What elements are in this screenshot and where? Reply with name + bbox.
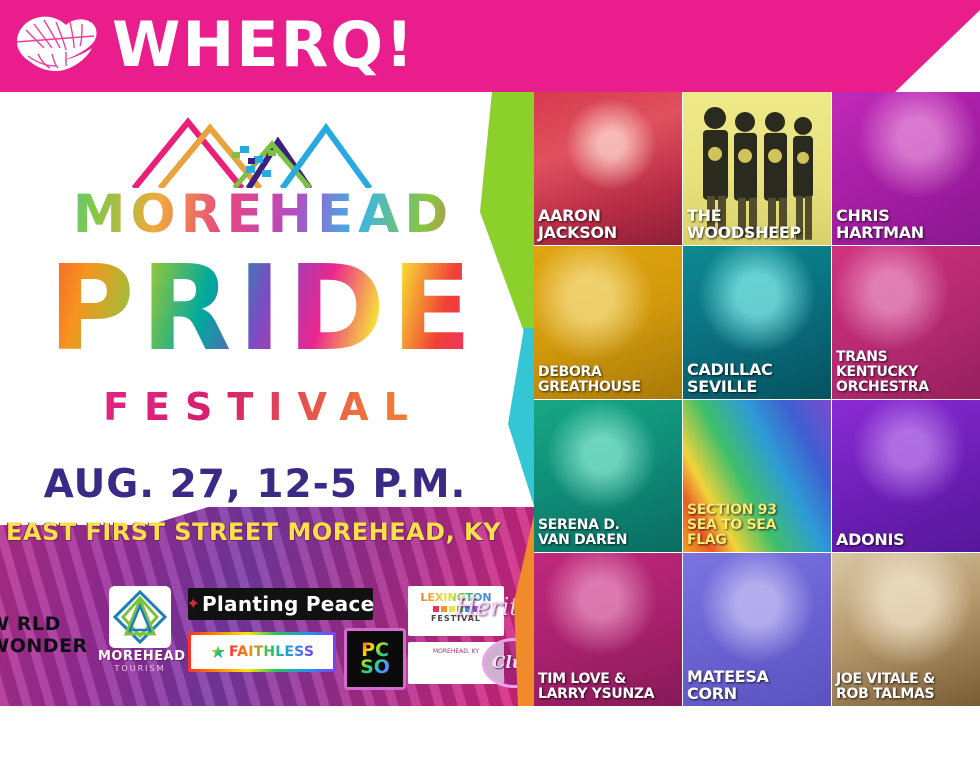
sponsor-pcso-line2: SO [360, 659, 390, 676]
sponsor-tourism-sub: TOURISM [98, 664, 182, 673]
faithless-star-icon: ★ [210, 642, 226, 663]
lips-kiss-icon [8, 8, 100, 82]
event-date: AUG. 27, 12-5 P.M. [20, 462, 490, 508]
performer-name: DEBORAGREATHOUSE [538, 365, 680, 395]
sponsor-tourism-caption: MOREHEAD [98, 650, 182, 664]
performer-name: ADONIS [836, 531, 978, 548]
sponsor-logo-faithless-campaign[interactable]: ★ FAITHLESS [188, 632, 336, 672]
performer-tile-mateesa-corn[interactable]: MATEESACORN [683, 553, 831, 706]
performer-name: SECTION 93SEA TO SEAFLAG [687, 503, 829, 548]
performer-name: SERENA D.VAN DAREN [538, 518, 680, 548]
performer-name: MATEESACORN [687, 668, 829, 702]
sponsor-logo-pcso[interactable]: PC SO [344, 628, 406, 690]
logo-text-festival: FESTIVAL [28, 384, 498, 430]
sponsor-wow-line2: WONDER [0, 635, 88, 657]
performer-name: JOE VITALE &ROB TALMAS [836, 672, 978, 702]
performer-name: TIM LOVE &LARRY YSUNZA [538, 672, 680, 702]
sponsor-planting-label: Planting Peace [202, 592, 375, 616]
performer-name: CADILLACSEVILLE [687, 361, 829, 395]
tourism-emblem-icon [109, 586, 171, 648]
performer-tile-the-woodsheep[interactable]: THEWOODSHEEP [683, 92, 831, 245]
site-header-banner: WHERQ! [0, 0, 980, 92]
page-root: WHERQ! [0, 0, 980, 784]
performer-name: THEWOODSHEEP [687, 207, 829, 241]
logo-text-morehead: MOREHEAD [28, 186, 498, 244]
performer-tile-trans-kentucky-orchestra[interactable]: TRANSKENTUCKYORCHESTRA [832, 246, 980, 399]
mountain-range-icon [132, 108, 372, 188]
performer-tile-section-93-sea-to-sea-flag[interactable]: SECTION 93SEA TO SEAFLAG [683, 400, 831, 553]
sponsor-faithless-label: FAITHLESS [229, 644, 314, 660]
performer-tile-chris-hartman[interactable]: CHRISHARTMAN [832, 92, 980, 245]
logo-text-pride: PRIDE [28, 244, 498, 372]
sponsor-logo-world-of-wonder[interactable]: W RLD WONDER [0, 602, 84, 668]
poster-left-panel: MOREHEAD PRIDE FESTIVAL AUG. 27, 12-5 P.… [0, 92, 540, 706]
sponsor-logo-morehead-tourism[interactable]: MOREHEAD TOURISM [98, 586, 182, 686]
performer-tile-debora-greathouse[interactable]: DEBORAGREATHOUSE [534, 246, 682, 399]
performer-tile-cadillac-seville[interactable]: CADILLACSEVILLE [683, 246, 831, 399]
performer-name: CHRISHARTMAN [836, 207, 978, 241]
performer-tile-joe-vitale-rob-talmas[interactable]: JOE VITALE &ROB TALMAS [832, 553, 980, 706]
sponsor-wow-line1: W RLD [0, 613, 88, 635]
performer-name: TRANSKENTUCKYORCHESTRA [836, 350, 978, 395]
brand-wordmark[interactable]: WHERQ! [112, 7, 415, 83]
event-poster: MOREHEAD PRIDE FESTIVAL AUG. 27, 12-5 P.… [0, 92, 980, 706]
performer-tile-tim-love-larry-ysunza[interactable]: TIM LOVE &LARRY YSUNZA [534, 553, 682, 706]
performer-tile-aaron-jackson[interactable]: AARONJACKSON [534, 92, 682, 245]
performer-grid: AARONJACKSON [534, 92, 980, 706]
performer-tile-serena-d-van-daren[interactable]: SERENA D.VAN DAREN [534, 400, 682, 553]
planting-peace-mark-icon: ✦ [187, 594, 200, 614]
sponsor-logo-row: W RLD WONDER MOREHEAD TOURISM [0, 580, 540, 690]
performer-tile-adonis[interactable]: ADONIS [832, 400, 980, 553]
performer-name: AARONJACKSON [538, 207, 680, 241]
sponsor-logo-planting-peace[interactable]: ✦ Planting Peace [188, 588, 373, 620]
event-location: EAST FIRST STREET MOREHEAD, KY [6, 517, 496, 547]
